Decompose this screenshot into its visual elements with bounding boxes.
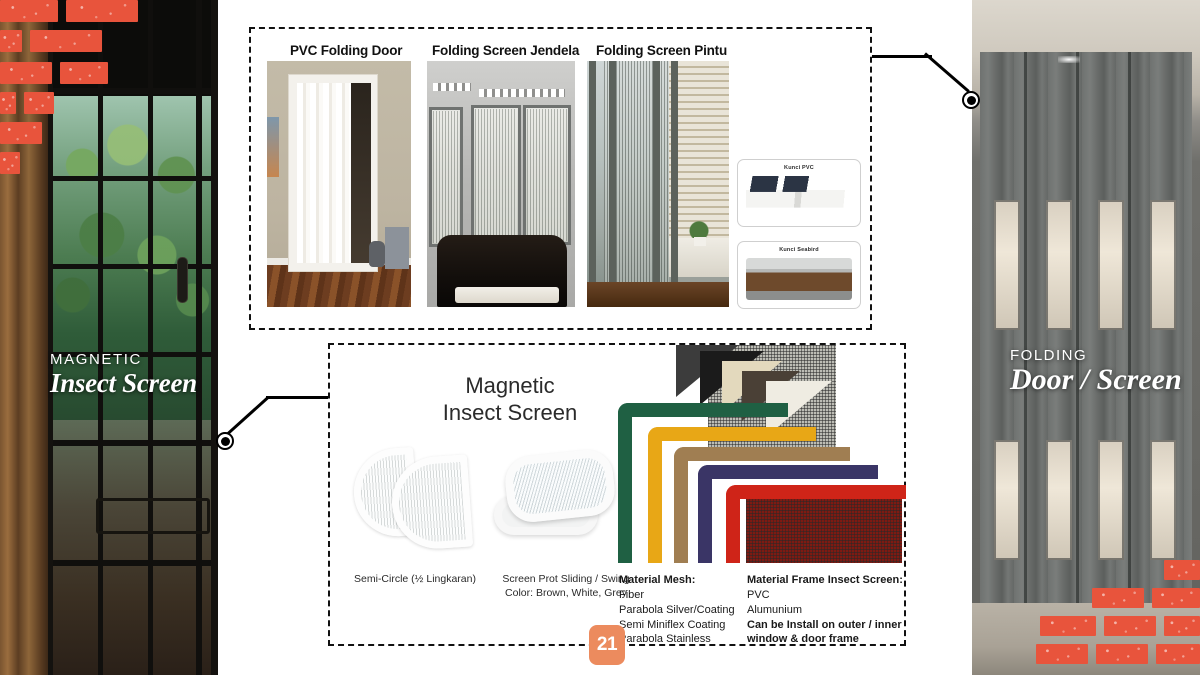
product-image-pvc-folding-door bbox=[267, 61, 411, 307]
brick-decoration bbox=[1040, 616, 1096, 636]
connector-line-bottom-diagonal bbox=[224, 396, 269, 437]
door-glass-panel bbox=[1098, 200, 1124, 330]
lock-label-kunci-pvc: Kunci PVC bbox=[738, 165, 860, 171]
connector-line-top-horizontal bbox=[872, 55, 932, 58]
frame-color-samples bbox=[618, 345, 906, 563]
brick-decoration bbox=[0, 92, 16, 114]
frame-sample-red bbox=[726, 485, 906, 563]
door-glass-panel bbox=[1046, 200, 1072, 330]
connector-line-top-diagonal bbox=[924, 52, 970, 92]
brick-decoration bbox=[1164, 616, 1200, 636]
spec-mesh-heading: Material Mesh: bbox=[619, 573, 741, 588]
connector-dot-bottom bbox=[216, 432, 234, 450]
right-overlay-line1: FOLDING bbox=[1010, 348, 1200, 363]
column-title-folding-screen-jendela: Folding Screen Jendela bbox=[432, 43, 579, 58]
spec-frame-item-1: Alumunium bbox=[747, 603, 907, 618]
magnetic-title-line1: Magnetic bbox=[390, 373, 630, 400]
caption-semi-circle-line1: Semi-Circle (½ Lingkaran) bbox=[340, 573, 490, 587]
door-panel-line bbox=[1128, 52, 1131, 612]
product-image-folding-screen-pintu bbox=[587, 61, 729, 307]
spec-mesh-item-2: Semi Miniflex Coating bbox=[619, 618, 741, 633]
lock-image-kunci-pvc bbox=[746, 176, 852, 218]
door-panel-line bbox=[1024, 52, 1027, 612]
brick-decoration bbox=[0, 152, 20, 174]
lock-label-kunci-seabird: Kunci Seabird bbox=[738, 247, 860, 253]
window-frame bbox=[44, 0, 218, 675]
magnetic-title-line2: Insect Screen bbox=[390, 400, 630, 427]
door-glass-panel bbox=[1150, 200, 1176, 330]
caption-semi-circle: Semi-Circle (½ Lingkaran) bbox=[340, 573, 490, 587]
ceiling-light bbox=[1058, 56, 1080, 63]
product-image-semi-circle-screens bbox=[350, 445, 480, 555]
left-photo-overlay-text: MAGNETIC Insect Screen bbox=[50, 352, 216, 397]
door-glass-panel bbox=[1046, 440, 1072, 560]
door-handle bbox=[178, 258, 187, 302]
top-product-box: PVC Folding Door Folding Screen Jendela … bbox=[249, 27, 872, 330]
door-glass-panel bbox=[994, 200, 1020, 330]
brick-decoration bbox=[0, 30, 22, 52]
connector-dot-top bbox=[962, 91, 980, 109]
product-image-folding-screen-jendela bbox=[427, 61, 575, 307]
spec-mesh-item-1: Parabola Silver/Coating bbox=[619, 603, 741, 618]
brick-decoration bbox=[1104, 616, 1156, 636]
magnetic-insect-screen-title: Magnetic Insect Screen bbox=[390, 373, 630, 427]
brick-decoration bbox=[60, 62, 108, 84]
brick-decoration bbox=[1156, 644, 1200, 664]
brick-decoration bbox=[1152, 588, 1200, 608]
left-overlay-line2: Insect Screen bbox=[50, 369, 216, 397]
door-panel-line bbox=[1076, 52, 1079, 612]
column-title-pvc-folding-door: PVC Folding Door bbox=[290, 43, 402, 58]
bottom-product-box: Magnetic Insect Screen bbox=[328, 343, 906, 646]
brick-decoration bbox=[30, 30, 102, 52]
right-photo-overlay-text: FOLDING Door / Screen bbox=[1010, 348, 1200, 396]
brick-decoration bbox=[1036, 644, 1088, 664]
spec-frame-heading: Material Frame Insect Screen: bbox=[747, 573, 907, 588]
connector-line-bottom-horizontal bbox=[266, 396, 330, 399]
brick-decoration bbox=[0, 0, 58, 22]
column-title-folding-screen-pintu: Folding Screen Pintu bbox=[596, 43, 727, 58]
right-floor bbox=[972, 603, 1200, 675]
spec-frame-note-line1: Can be Install on outer / inner bbox=[747, 618, 907, 633]
brick-decoration bbox=[1164, 560, 1200, 580]
lock-image-kunci-seabird bbox=[746, 258, 852, 300]
brick-decoration bbox=[0, 122, 42, 144]
page-number-badge: 21 bbox=[589, 625, 625, 665]
brick-decoration bbox=[66, 0, 138, 22]
brick-decoration bbox=[24, 92, 54, 114]
spec-mesh-item-3: Parabola Stainless bbox=[619, 632, 741, 647]
brick-decoration bbox=[1092, 588, 1144, 608]
spec-mesh-item-0: Fiber bbox=[619, 588, 741, 603]
lock-card-kunci-seabird: Kunci Seabird bbox=[737, 241, 861, 309]
lock-card-kunci-pvc: Kunci PVC bbox=[737, 159, 861, 227]
spec-material-frame: Material Frame Insect Screen: PVC Alumun… bbox=[747, 573, 907, 647]
spec-material-mesh: Material Mesh: Fiber Parabola Silver/Coa… bbox=[619, 573, 741, 647]
door-glass-panel bbox=[1150, 440, 1176, 560]
slide-canvas: MAGNETIC Insect Screen FOLDING Door / Sc… bbox=[0, 0, 1200, 675]
brick-decoration bbox=[0, 62, 52, 84]
door-glass-panel bbox=[1098, 440, 1124, 560]
door-glass-panel bbox=[994, 440, 1020, 560]
brick-decoration bbox=[1096, 644, 1148, 664]
spec-frame-item-0: PVC bbox=[747, 588, 907, 603]
spec-frame-note-line2: window & door frame bbox=[747, 632, 907, 647]
right-overlay-line2: Door / Screen bbox=[1010, 364, 1200, 396]
left-overlay-line1: MAGNETIC bbox=[50, 352, 216, 367]
